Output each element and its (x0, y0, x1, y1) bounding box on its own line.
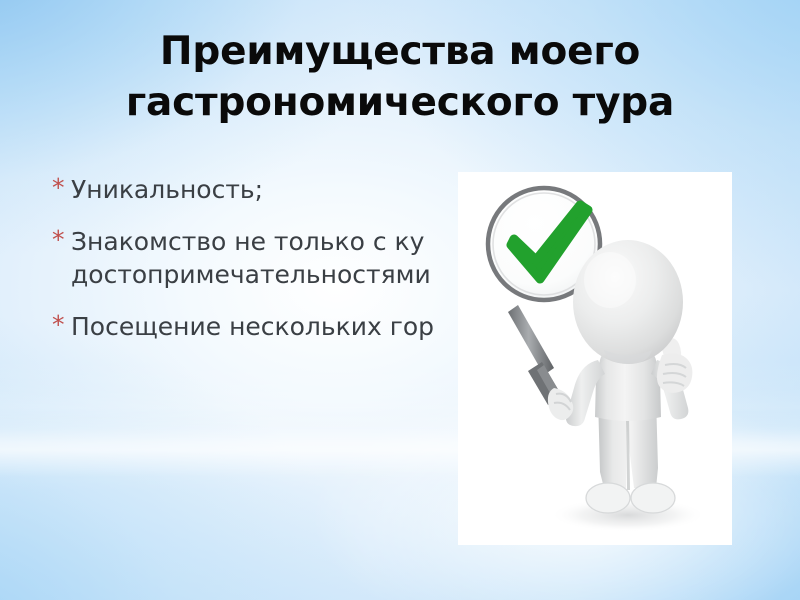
slide-image (458, 172, 732, 545)
figure-head-highlight (584, 252, 636, 308)
figure-head (573, 240, 683, 364)
slide-title: Преимущества моего гастрономического тур… (64, 26, 736, 128)
figure-chest (595, 355, 661, 421)
thumbs-up-figure-with-checkmark-illustration (458, 172, 732, 545)
asterisk-bullet-icon: * (52, 171, 65, 204)
slide: Преимущества моего гастрономического тур… (0, 0, 800, 600)
asterisk-bullet-icon: * (52, 308, 65, 341)
asterisk-bullet-icon: * (52, 223, 65, 256)
